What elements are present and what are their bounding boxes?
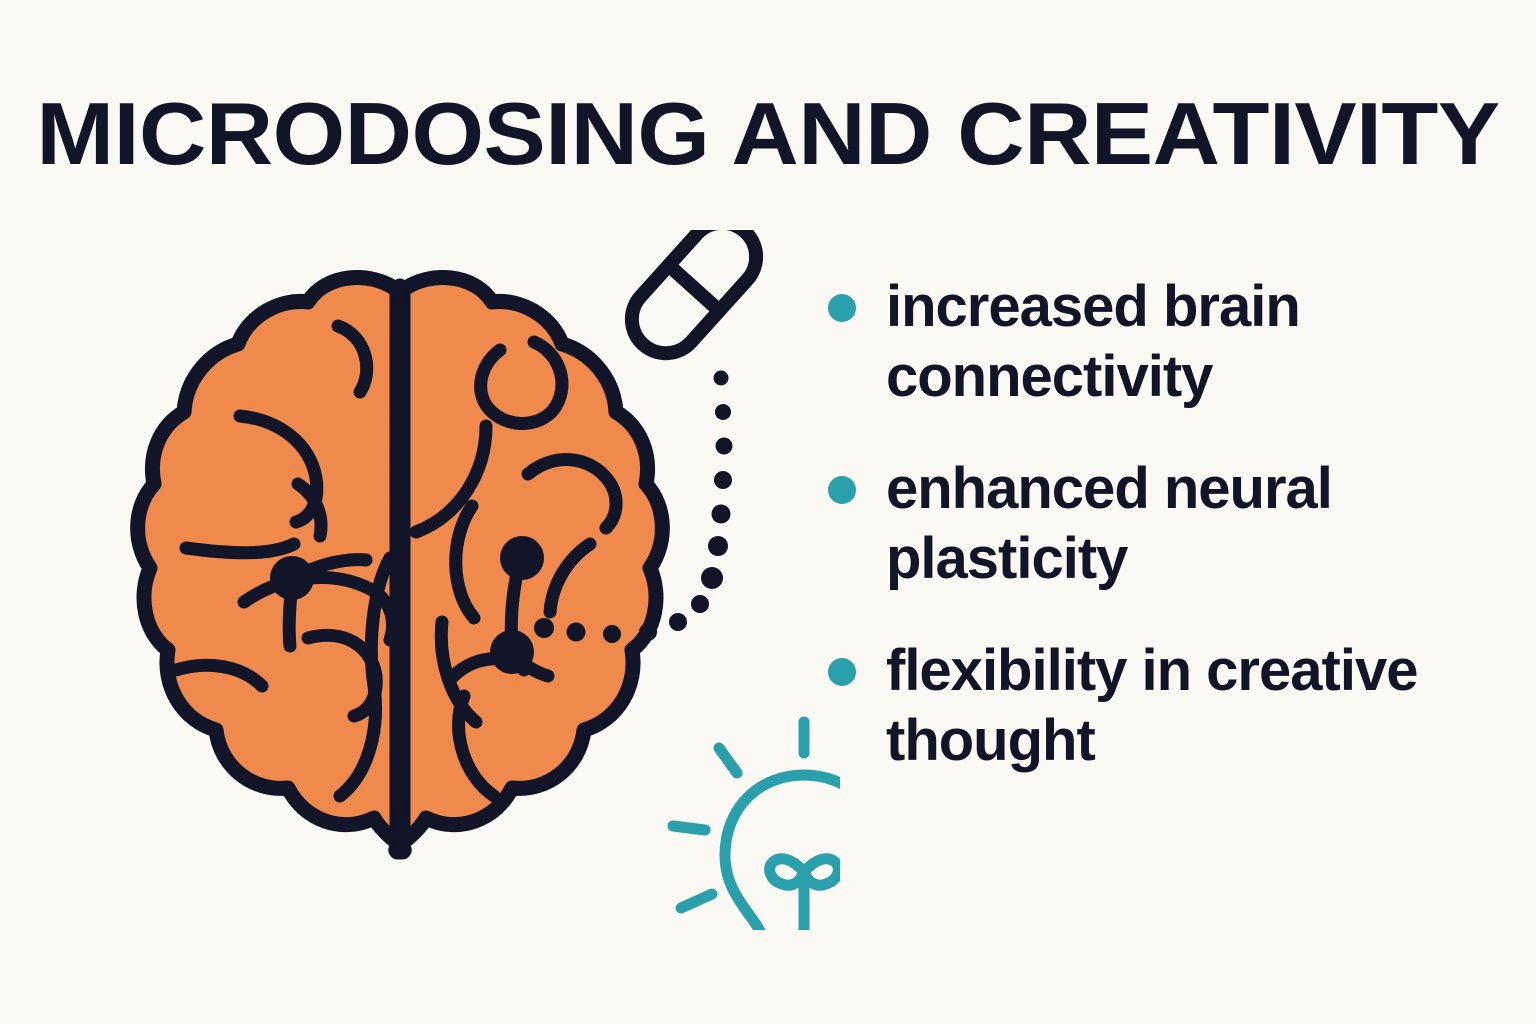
list-item-label: flexibility in creative thought — [886, 636, 1426, 776]
trail-dot — [567, 623, 586, 642]
bulb-filament-right — [804, 859, 838, 885]
infographic-poster: MICRODOSING AND CREATIVITY — [0, 0, 1536, 1024]
list-item: increased brain connectivity — [828, 272, 1468, 412]
list-item: flexibility in creative thought — [828, 636, 1468, 776]
trail-dot — [715, 404, 731, 420]
brain-central-fissure — [398, 286, 400, 850]
brain-illustration — [138, 278, 663, 853]
trail-dot — [691, 595, 709, 613]
brain-node-right-upper — [500, 536, 544, 580]
bullet-dot-icon — [828, 476, 856, 504]
brain-node-left — [270, 556, 314, 600]
bulb-ray-left — [673, 826, 705, 830]
benefits-list: increased brain connectivity enhanced ne… — [828, 272, 1468, 818]
trail-dot — [712, 505, 731, 524]
pill-body — [618, 230, 770, 367]
pill-capsule-icon — [618, 230, 770, 367]
page-title: MICRODOSING AND CREATIVITY — [0, 86, 1536, 182]
trail-dot — [669, 613, 687, 631]
lightbulb-icon — [673, 722, 840, 930]
trail-dot — [701, 567, 723, 589]
brain-node-right-lower — [490, 630, 534, 674]
bullet-dot-icon — [828, 294, 856, 322]
bulb-ray-lower-left — [681, 894, 712, 908]
list-item: enhanced neural plasticity — [828, 454, 1468, 594]
bulb-glass — [725, 775, 840, 930]
trail-dot — [708, 536, 728, 556]
trail-dot — [639, 623, 657, 641]
trail-dot — [603, 625, 621, 643]
trail-dot — [714, 371, 729, 386]
trail-dot — [716, 438, 733, 455]
bullet-dot-icon — [828, 658, 856, 686]
bulb-ray-upper-left — [719, 748, 737, 773]
trail-dot — [534, 618, 554, 638]
illustration-svg — [120, 230, 840, 930]
trail-dot — [714, 471, 732, 489]
list-item-label: enhanced neural plasticity — [886, 454, 1426, 594]
list-item-label: increased brain connectivity — [886, 272, 1426, 412]
illustration-group — [120, 230, 840, 930]
